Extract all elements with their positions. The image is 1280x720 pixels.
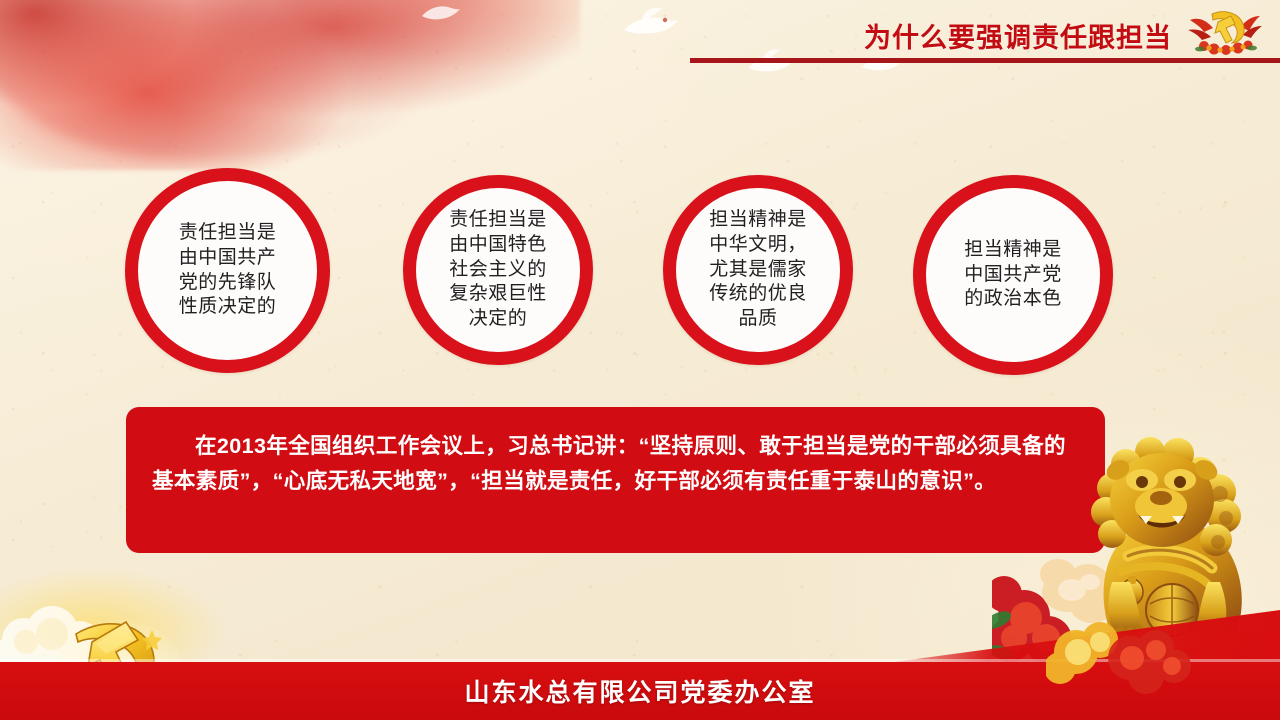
footer-organization: 山东水总有限公司党委办公室 (0, 662, 1280, 720)
concept-circle-4[interactable]: 担当精神是 中国共产党 的政治本色 (913, 175, 1113, 375)
concept-circle-1[interactable]: 责任担当是 由中国共产 党的先锋队 性质决定的 (125, 168, 330, 373)
concept-circle-2-text: 责任担当是 由中国特色 社会主义的 复杂艰巨性 决定的 (449, 208, 547, 331)
concept-circle-3-text: 担当精神是 中华文明， 尤其是儒家 传统的优良 品质 (709, 208, 807, 331)
concept-circle-1-text: 责任担当是 由中国共产 党的先锋队 性质决定的 (179, 221, 277, 320)
quote-callout-box: 在2013年全国组织工作会议上，习总书记讲：“坚持原则、敢于担当是党的干部必须具… (126, 407, 1105, 553)
concept-circle-2[interactable]: 责任担当是 由中国特色 社会主义的 复杂艰巨性 决定的 (403, 175, 593, 365)
concept-circle-4-text: 担当精神是 中国共产党 的政治本色 (964, 238, 1062, 312)
party-emblem-icon (1182, 4, 1268, 56)
quote-text: 在2013年全国组织工作会议上，习总书记讲：“坚持原则、敢于担当是党的干部必须具… (152, 429, 1079, 499)
slide-canvas: 为什么要强调责任跟担当 (0, 0, 1280, 720)
page-title: 为什么要强调责任跟担当 (864, 16, 1172, 55)
header-underline (690, 58, 1280, 63)
slide-header: 为什么要强调责任跟担当 (0, 0, 1280, 75)
concept-circle-3[interactable]: 担当精神是 中华文明， 尤其是儒家 传统的优良 品质 (663, 175, 853, 365)
